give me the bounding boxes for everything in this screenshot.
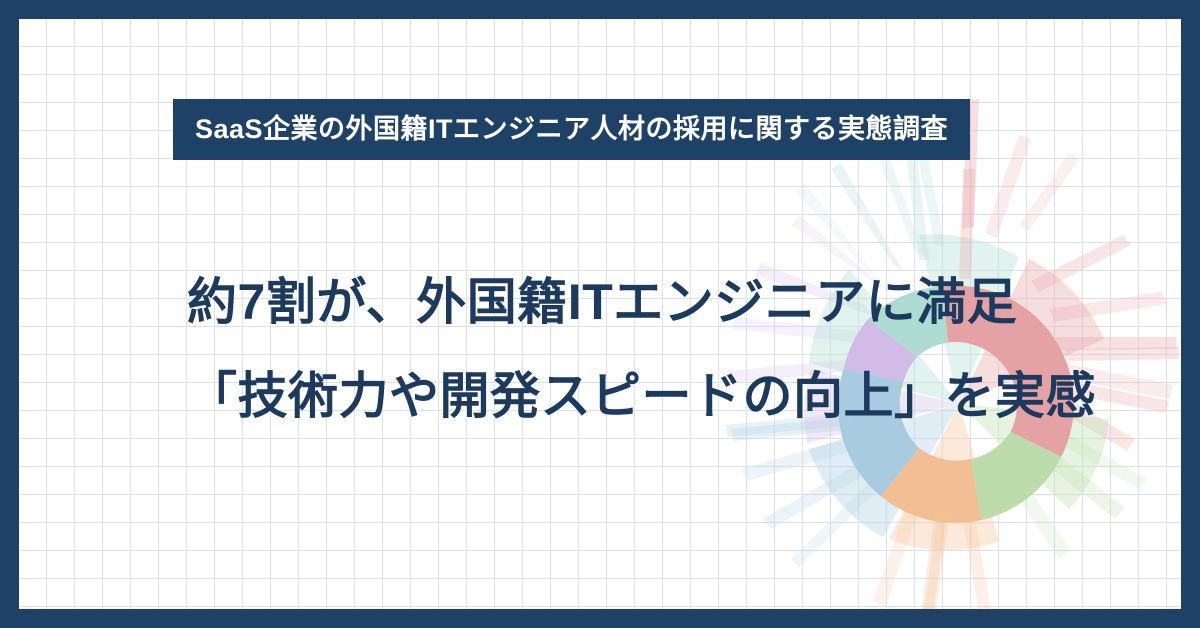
- slide-canvas: SaaS企業の外国籍ITエンジニア人材の採用に関する実態調査 約7割が、外国籍I…: [0, 0, 1200, 628]
- study-title-text: SaaS企業の外国籍ITエンジニア人材の採用に関する実態調査: [195, 116, 948, 143]
- ray-group-orange: [873, 511, 991, 609]
- ray-group-green: [997, 419, 1147, 559]
- headline-line-2: 「技術力や開発スピードの向上」を実感: [187, 371, 1096, 421]
- grid-panel: SaaS企業の外国籍ITエンジニア人材の採用に関する実態調査 約7割が、外国籍I…: [19, 19, 1181, 609]
- ray-group-blue: [725, 413, 881, 567]
- headline-block: 約7割が、外国籍ITエンジニアに満足 「技術力や開発スピードの向上」を実感: [187, 277, 1096, 421]
- donut-segment-green: [971, 432, 1062, 520]
- headline-line-1: 約7割が、外国籍ITエンジニアに満足: [187, 277, 1096, 327]
- study-title-banner: SaaS企業の外国籍ITエンジニア人材の採用に関する実態調査: [173, 99, 970, 160]
- donut-segment-orange: [881, 448, 982, 523]
